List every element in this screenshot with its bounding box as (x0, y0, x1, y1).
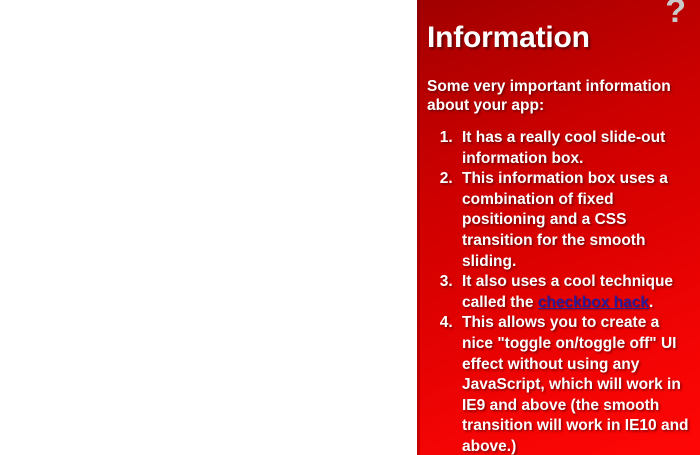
panel-title: Information (427, 0, 694, 53)
checkbox-hack-link[interactable]: checkbox hack (538, 294, 649, 311)
app-window: ? Information Some very important inform… (0, 0, 700, 455)
panel-content: Information Some very important informat… (427, 0, 694, 455)
app-content-area (0, 0, 417, 455)
information-slide-out-panel: ? Information Some very important inform… (417, 0, 700, 455)
information-list: It has a really cool slide-out informati… (427, 128, 694, 455)
panel-left-edge-divider (417, 0, 420, 455)
list-item: This allows you to create a nice "toggle… (457, 313, 694, 455)
list-item: It also uses a cool technique called the… (457, 272, 694, 313)
list-item-text-suffix: . (649, 294, 653, 311)
list-item: It has a really cool slide-out informati… (457, 128, 694, 169)
list-item: This information box uses a combination … (457, 169, 694, 272)
panel-intro-text: Some very important information about yo… (427, 53, 689, 115)
